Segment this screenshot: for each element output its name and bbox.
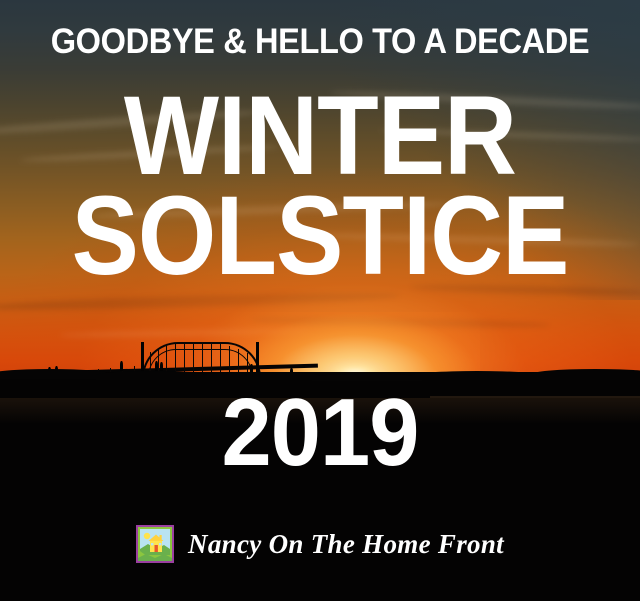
ridge-bump bbox=[412, 371, 542, 380]
winter-solstice-poster: GOODBYE & HELLO TO A DECADE WINTER SOLST… bbox=[0, 0, 640, 601]
title-line-solstice: SOLSTICE bbox=[32, 180, 608, 292]
house-in-heart-logo-icon bbox=[136, 525, 174, 563]
person-silhouette bbox=[155, 361, 158, 371]
bridge-truss-bar bbox=[202, 342, 203, 376]
ridge-bump bbox=[0, 369, 110, 379]
brand-name-text: Nancy On The Home Front bbox=[188, 531, 504, 558]
brand-bar: Nancy On The Home Front bbox=[0, 521, 640, 567]
person-silhouette bbox=[160, 362, 163, 371]
ridge-bump bbox=[530, 369, 640, 380]
year-text: 2019 bbox=[19, 385, 621, 481]
ridge-bump bbox=[96, 371, 206, 380]
bridge-truss-bar bbox=[193, 342, 194, 376]
eyebrow-text: GOODBYE & HELLO TO A DECADE bbox=[22, 24, 617, 59]
person-silhouette bbox=[120, 361, 123, 371]
